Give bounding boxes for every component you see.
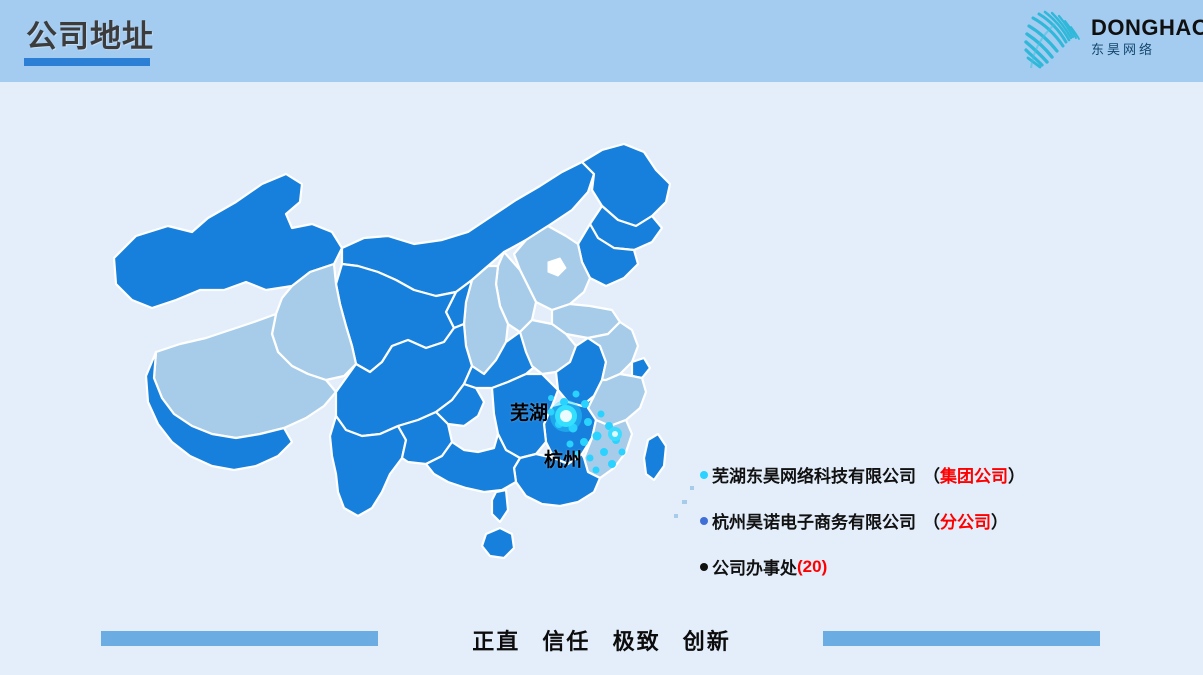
- legend-tag-branch-company: 分公司: [940, 508, 991, 533]
- page-title: 公司地址: [26, 18, 154, 56]
- leizhou-peninsula: [492, 490, 508, 522]
- slogan-word-3: 极致: [613, 629, 661, 654]
- logo-name: DONGHAO: [1091, 16, 1191, 40]
- title-underline: [24, 58, 150, 66]
- header-bar: 公司地址: [0, 0, 1203, 82]
- company-logo: DONGHAO 东昊网络: [1019, 6, 1191, 74]
- logo-subtitle: 东昊网络: [1091, 41, 1191, 59]
- china-provinces-map: [96, 140, 716, 610]
- province-shanghai: [632, 358, 650, 378]
- legend-open-paren: （: [923, 462, 940, 487]
- legend-bullet-black: [700, 563, 708, 571]
- city-label-wuhu: 芜湖: [510, 398, 548, 425]
- legend-close-paren: ）: [1008, 462, 1025, 487]
- province-hainan: [482, 528, 514, 558]
- legend-item-branch-company: 杭州昊诺电子商务有限公司 （ 分公司 ）: [700, 508, 1120, 533]
- coastal-islets: [674, 486, 694, 518]
- province-heilongjiang: [582, 144, 670, 226]
- legend-tag-group-company: 集团公司: [940, 462, 1008, 487]
- legend-label-branch-company: 杭州昊诺电子商务有限公司: [712, 508, 916, 533]
- legend-label-offices: 公司办事处: [712, 554, 797, 579]
- slogan-word-2: 信任: [542, 629, 590, 654]
- donghao-wing-logo-icon: [1019, 8, 1091, 72]
- legend-open-paren: （: [923, 508, 940, 533]
- legend-bullet-cyan: [700, 471, 708, 479]
- legend-label-group-company: 芜湖东昊网络科技有限公司: [712, 462, 916, 487]
- logo-text-block: DONGHAO 东昊网络: [1091, 16, 1191, 59]
- china-map-container: 芜湖 杭州: [96, 140, 716, 610]
- legend-close-paren: ）: [991, 508, 1008, 533]
- slogan-word-4: 创新: [683, 629, 731, 654]
- slogan-word-1: 正直: [472, 629, 520, 654]
- legend-item-offices: 公司办事处 (20): [700, 554, 1120, 579]
- legend-bullet-blue: [700, 517, 708, 525]
- province-taiwan: [644, 434, 666, 480]
- legend-tag-office-count: (20): [797, 557, 827, 577]
- legend: 芜湖东昊网络科技有限公司 （ 集团公司 ） 杭州昊诺电子商务有限公司 （ 分公司…: [700, 462, 1120, 579]
- footer-slogan: 正直 信任 极致 创新: [0, 624, 1203, 656]
- legend-item-group-company: 芜湖东昊网络科技有限公司 （ 集团公司 ）: [700, 462, 1120, 487]
- city-label-hangzhou: 杭州: [544, 445, 582, 472]
